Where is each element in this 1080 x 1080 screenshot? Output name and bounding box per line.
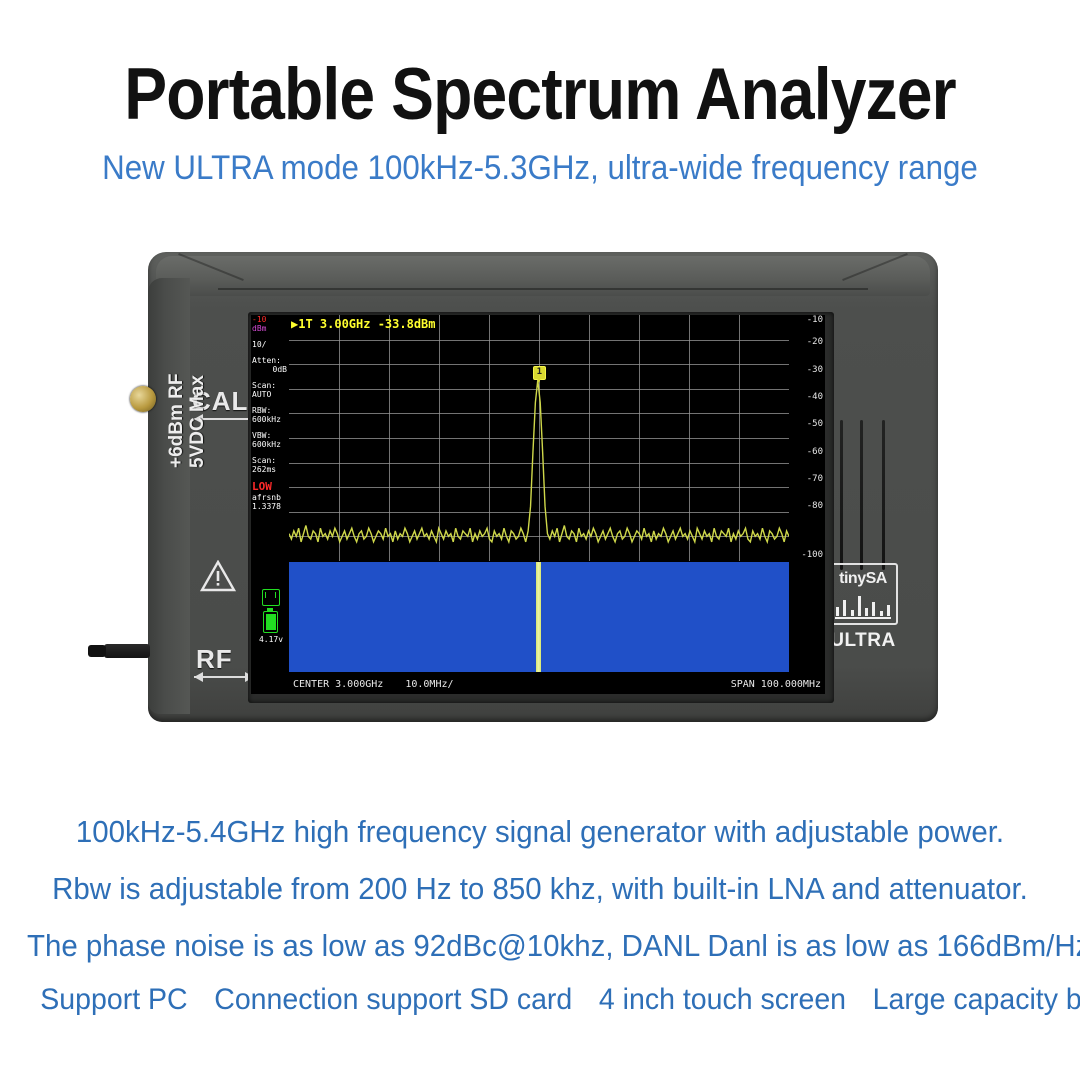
scale-per-div: 10/	[251, 340, 289, 349]
sidebar-extra-1: afrsnb	[251, 493, 289, 502]
screen-status-bar: CENTER 3.000GHz 10.0MHz/ SPAN 100.000MHz	[289, 674, 825, 694]
lid-seam	[218, 288, 868, 290]
screen-bezel: -10 dBm 10/ Atten: 0dB Scan: AUTO RBW: 6…	[248, 312, 834, 703]
rf-sma-connector[interactable]	[104, 644, 150, 658]
atten-label: Atten:	[251, 356, 289, 365]
span-value: SPAN 100.000MHz	[731, 679, 821, 690]
feature-line-3: The phase noise is as low as 92dBc@10khz…	[27, 929, 1053, 963]
input-mode-badge: LOW	[251, 481, 289, 493]
device-photo: CAL +6dBm RF 5VDC Max RF	[148, 252, 938, 722]
db-axis-labels: -10-20-30-40-50-60-70-80-100	[789, 315, 825, 561]
device-body: CAL +6dBm RF 5VDC Max RF	[148, 252, 938, 722]
logo-baseline	[835, 617, 891, 619]
battery-icon	[263, 611, 278, 633]
db-tick-neg40: -40	[807, 392, 823, 402]
screen-sidebar: -10 dBm 10/ Atten: 0dB Scan: AUTO RBW: 6…	[251, 315, 289, 694]
rbw-label: RBW:	[251, 406, 289, 415]
device-screen[interactable]: -10 dBm 10/ Atten: 0dB Scan: AUTO RBW: 6…	[251, 315, 825, 694]
rf-arrow-icon	[194, 676, 254, 678]
rbw-value: 600kHz	[251, 415, 289, 424]
db-tick-neg20: -20	[807, 337, 823, 347]
battery-voltage: 4.17v	[252, 635, 289, 644]
model-name: ULTRA	[826, 630, 900, 652]
cal-sma-connector[interactable]	[130, 386, 156, 412]
atten-value: 0dB	[251, 365, 289, 374]
feature-line-1: 100kHz-5.4GHz high frequency signal gene…	[27, 815, 1053, 849]
port-rating-label: +6dBm RF 5VDC Max	[166, 318, 206, 468]
feature-tags: Support PCConnection support SD card4 in…	[27, 983, 1053, 1017]
feature-line-2: Rbw is adjustable from 200 Hz to 850 khz…	[27, 872, 1053, 906]
feature-tag: Connection support SD card	[214, 983, 572, 1016]
rf-port-label: RF	[196, 644, 233, 675]
brand-name: tinySA	[830, 565, 896, 589]
center-frequency: CENTER 3.000GHz	[293, 679, 383, 690]
ref-level-unit: dBm	[251, 324, 289, 333]
brand-logo: tinySA ULTRA	[826, 563, 900, 652]
sidebar-extra-2: 1.3378	[251, 502, 289, 511]
trace-curve	[289, 315, 789, 561]
db-tick-neg50: -50	[807, 419, 823, 429]
rating-line-2: 5VDC Max	[187, 318, 208, 468]
scale-per-division: 10.0MHz/	[405, 679, 453, 690]
db-tick-neg60: -60	[807, 447, 823, 457]
device-top-lid	[156, 256, 930, 296]
marker-readout: ▶1T 3.00GHz -33.8dBm	[291, 317, 436, 331]
feature-tag: 4 inch touch screen	[599, 983, 846, 1016]
db-tick-neg10: -10	[807, 315, 823, 325]
waterfall-display[interactable]	[289, 562, 789, 672]
ref-level-value: -10	[251, 315, 289, 324]
vbw-label: VBW:	[251, 431, 289, 440]
logo-frame-icon: tinySA	[828, 563, 898, 625]
scan-mode-value: AUTO	[251, 390, 289, 399]
feature-tag: Support PC	[40, 983, 187, 1016]
db-tick-neg30: -30	[807, 365, 823, 375]
page-subtitle: New ULTRA mode 100kHz-5.3GHz, ultra-wide…	[43, 148, 1037, 188]
scantime-value: 262ms	[251, 465, 289, 474]
feature-tag: Large capacity battery	[873, 983, 1080, 1016]
page-title: Portable Spectrum Analyzer	[65, 56, 1015, 134]
scan-mode-label: Scan:	[251, 381, 289, 390]
marker-flag[interactable]: 1	[533, 366, 546, 380]
scantime-label: Scan:	[251, 456, 289, 465]
waterfall-signal-line	[536, 562, 541, 672]
sd-card-icon	[262, 589, 280, 606]
vbw-value: 600kHz	[251, 440, 289, 449]
db-tick-neg80: -80	[807, 501, 823, 511]
db-tick-neg100: -100	[801, 550, 823, 560]
db-tick-neg70: -70	[807, 474, 823, 484]
logo-spectrum-bars-icon	[836, 594, 890, 616]
left-connector-rail: CAL +6dBm RF 5VDC Max RF	[148, 278, 190, 714]
warning-triangle-icon	[200, 560, 236, 591]
case-vents	[834, 420, 896, 570]
rating-line-1: +6dBm RF	[166, 318, 187, 468]
